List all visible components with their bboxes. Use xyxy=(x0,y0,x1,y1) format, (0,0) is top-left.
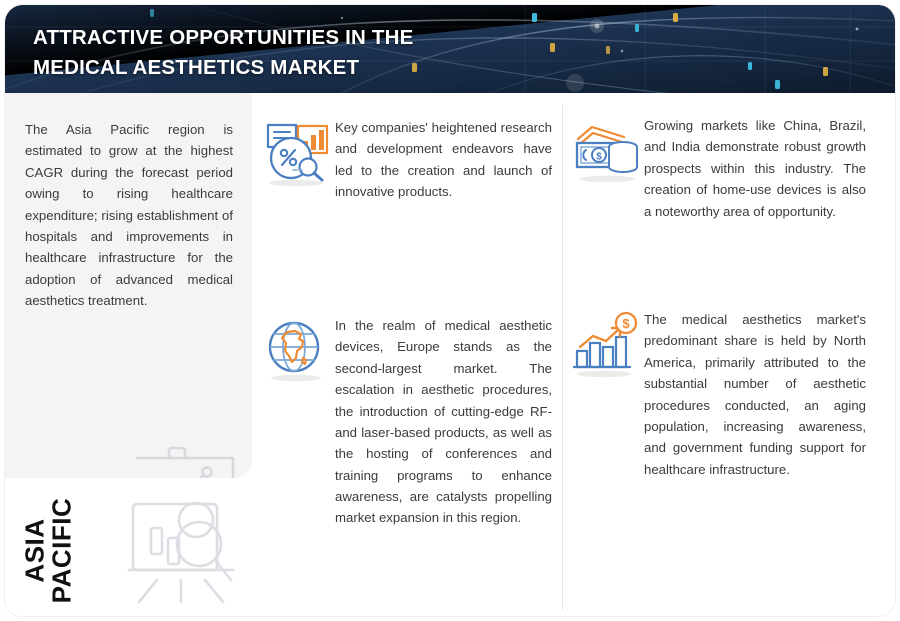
infographic-card: ATTRACTIVE OPPORTUNITIES IN THE MEDICAL … xyxy=(4,4,896,617)
region-label: ASIA PACIFIC xyxy=(21,486,74,616)
growth-bar-chart-dollar-coin-icon: $ xyxy=(572,309,642,379)
insight-cell-emerging-markets: $ Growing markets like China, Brazil, an… xyxy=(572,115,866,222)
research-document-bar-chart-percent-magnifier-icon xyxy=(263,117,333,187)
insight-cell-north-america: $ The medical aesthetics market's predom… xyxy=(572,309,866,480)
banknote-coins-money-icon: $ xyxy=(572,115,642,185)
insight-body-emerging-markets: Growing markets like China, Brazil, and … xyxy=(644,115,866,222)
left-highlight-panel: The Asia Pacific region is estimated to … xyxy=(5,93,252,478)
insight-body-europe: In the realm of medical aesthetic device… xyxy=(335,315,552,529)
left-panel-body-text: The Asia Pacific region is estimated to … xyxy=(25,119,233,311)
region-callout: ASIA PACIFIC xyxy=(5,478,252,617)
insight-body-rnd: Key companies' heightened research and d… xyxy=(335,117,552,203)
svg-text:$: $ xyxy=(622,316,630,331)
globe-icon xyxy=(263,315,333,385)
insight-cell-rnd: Key companies' heightened research and d… xyxy=(263,117,552,203)
column-divider xyxy=(562,105,563,610)
page-title: ATTRACTIVE OPPORTUNITIES IN THE MEDICAL … xyxy=(33,23,733,82)
header-banner: ATTRACTIVE OPPORTUNITIES IN THE MEDICAL … xyxy=(5,5,896,93)
insight-body-north-america: The medical aesthetics market's predomin… xyxy=(644,309,866,480)
svg-text:$: $ xyxy=(596,152,602,163)
insight-cell-europe: In the realm of medical aesthetic device… xyxy=(263,315,552,529)
presentation-board-magnifier-icon xyxy=(127,494,245,604)
